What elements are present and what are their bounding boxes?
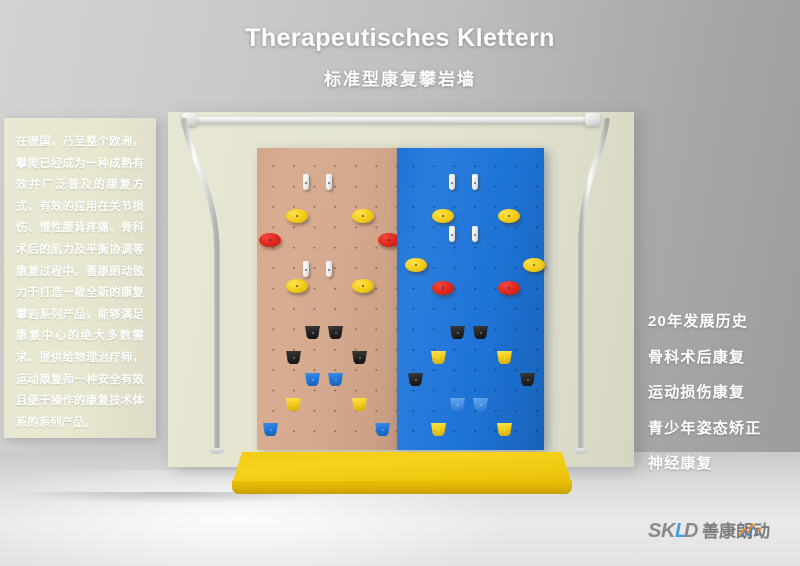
base-mat [232,452,572,496]
climbing-hold-bucket-black[interactable] [407,373,424,386]
climbing-panel-wood[interactable] [257,148,397,450]
feature-item: 骨科术后康复 [648,346,798,367]
climbing-hold-bucket-blue[interactable] [262,423,279,436]
climbing-hold-bucket-black[interactable] [351,351,368,364]
page-title-chinese: 标准型康复攀岩墙 [0,65,800,90]
description-panel: 在德国，乃至整个欧洲，攀爬已经成为一种成熟有效并广泛普及的康复方式，有效的应用在… [4,118,156,438]
feature-item: 运动损伤康复 [648,381,798,402]
brand-logo: S K L D 善康朗动 [648,518,788,544]
climbing-hold-peg[interactable] [449,226,455,242]
feature-item: 青少年姿态矫正 [648,417,798,438]
climbing-hold-disc-red[interactable] [498,281,520,295]
climbing-hold-bucket-yellow[interactable] [351,398,368,411]
climbing-hold-peg[interactable] [326,261,332,277]
climbing-hold-peg[interactable] [449,174,455,190]
mat-front-edge [232,481,572,494]
climbing-hold-disc-red[interactable] [259,233,281,247]
climbing-hold-bucket-black[interactable] [327,326,344,339]
climbing-hold-bucket-blue[interactable] [304,373,321,386]
climbing-hold-bucket-black[interactable] [519,373,536,386]
climbing-hold-disc-yellow[interactable] [498,209,520,223]
support-post-right [560,118,630,458]
climbing-hold-disc-yellow[interactable] [286,279,308,293]
climbing-hold-peg[interactable] [472,226,478,242]
description-text: 在德国，乃至整个欧洲，攀爬已经成为一种成熟有效并广泛普及的康复方式，有效的应用在… [16,132,144,435]
climbing-hold-bucket-black[interactable] [304,326,321,339]
support-post-left [178,118,248,458]
climbing-hold-peg[interactable] [326,174,332,190]
climbing-hold-disc-yellow[interactable] [286,209,308,223]
climbing-hold-bucket-yellow[interactable] [430,423,447,436]
climbing-hold-bucket-yellow[interactable] [285,398,302,411]
climbing-hold-bucket-blue[interactable] [374,423,391,436]
climbing-hold-disc-yellow[interactable] [405,258,427,272]
climbing-hold-bucket-yellow[interactable] [496,351,513,364]
peg-hole-grid [397,148,544,450]
climbing-hold-disc-yellow[interactable] [432,209,454,223]
post-foot-left [212,448,221,454]
climbing-hold-bucket-black[interactable] [472,326,489,339]
feature-item: 20年发展历史 [648,310,798,331]
climbing-hold-disc-yellow[interactable] [352,279,374,293]
peg-hole-grid [257,148,397,450]
climbing-hold-peg[interactable] [303,261,309,277]
climbing-hold-disc-yellow[interactable] [352,209,374,223]
page-title-german: Therapeutisches Klettern [0,24,800,53]
post-foot-right [576,448,585,454]
climbing-hold-peg[interactable] [303,174,309,190]
climbing-hold-disc-yellow[interactable] [523,258,545,272]
climbing-hold-bucket-black[interactable] [285,351,302,364]
climbing-hold-peg[interactable] [472,174,478,190]
product-showcase-slide: Therapeutisches Klettern 标准型康复攀岩墙 在德国，乃至… [0,0,800,566]
feature-list: 20年发展历史 骨科术后康复 运动损伤康复 青少年姿态矫正 神经康复 [648,310,798,488]
mat-top-surface [232,452,572,484]
climbing-hold-bucket-blue[interactable] [327,373,344,386]
climbing-hold-bucket-lblue[interactable] [449,398,466,411]
svg-text:D: D [684,520,698,542]
climbing-hold-bucket-yellow[interactable] [430,351,447,364]
feature-item: 神经康复 [648,452,798,473]
logo-mark: S K L D 善康朗动 [648,518,788,544]
climbing-panel-blue[interactable] [397,148,544,450]
svg-text:S: S [648,520,662,542]
climbing-hold-bucket-black[interactable] [449,326,466,339]
climbing-hold-bucket-yellow[interactable] [496,423,513,436]
climbing-hold-disc-red[interactable] [432,281,454,295]
svg-text:善康朗动: 善康朗动 [702,521,770,542]
climbing-hold-bucket-lblue[interactable] [472,398,489,411]
